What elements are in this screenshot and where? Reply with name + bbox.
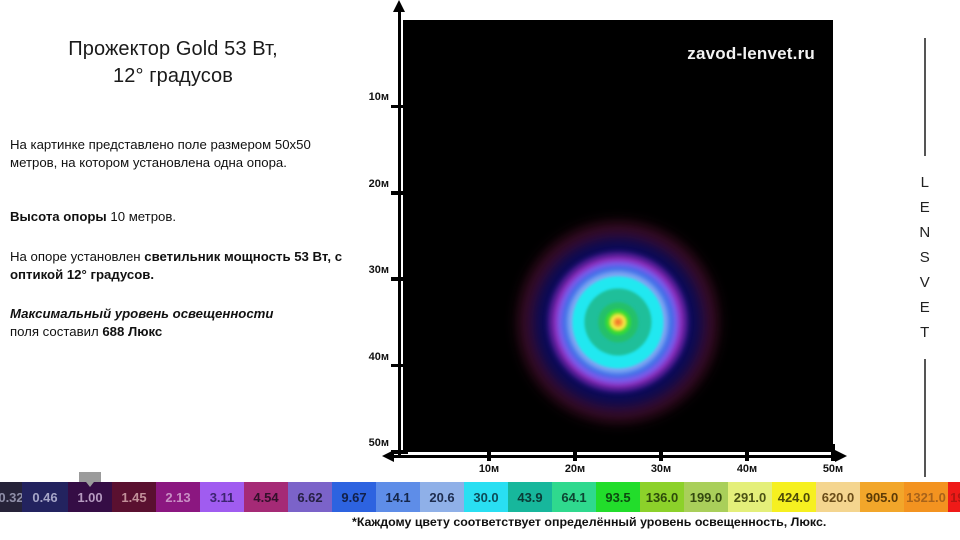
y-tick-label: 10м (349, 91, 389, 103)
y-tick-mark (391, 450, 408, 454)
colorbar-swatch-value: 0.46 (32, 490, 57, 505)
colorbar-swatch[interactable]: 1928.0 (948, 482, 960, 512)
colorbar-swatch-value: 424.0 (778, 490, 811, 505)
luminaire-prefix: На опоре установлен (10, 249, 144, 264)
colorbar-swatch-value: 43.9 (517, 490, 542, 505)
brand-rule-top (924, 38, 925, 156)
brand-letter: S (905, 245, 945, 270)
colorbar-swatch[interactable]: 4.54 (244, 482, 288, 512)
brand-letter: N (905, 220, 945, 245)
colorbar-swatch[interactable]: 20.6 (420, 482, 464, 512)
brand-letter: V (905, 270, 945, 295)
colorbar-swatch-value: 199.0 (690, 490, 723, 505)
colorbar-swatch[interactable]: 905.0 (860, 482, 904, 512)
y-tick-label: 30м (349, 264, 389, 276)
page-title-line-2: 12° градусов (8, 63, 338, 90)
x-tick-mark (487, 444, 491, 461)
plot-area: zavod-lenvet.ru (403, 20, 833, 452)
colorbar-swatch-value: 1321.0 (906, 490, 946, 505)
x-tick-mark (659, 444, 663, 461)
colorbar-swatch[interactable]: 136.0 (640, 482, 684, 512)
watermark-text: zavod-lenvet.ru (687, 44, 815, 64)
x-tick-label: 40м (727, 463, 767, 475)
description-pole-height: Высота опоры 10 метров. (10, 208, 346, 226)
colorbar-swatch-value: 6.62 (297, 490, 322, 505)
colorbar-swatch-value: 2.13 (165, 490, 190, 505)
y-tick-mark (391, 191, 408, 195)
colorbar-legend[interactable]: 0.320.461.001.452.133.114.546.629.6714.1… (0, 482, 960, 512)
colorbar-swatch[interactable]: 43.9 (508, 482, 552, 512)
x-tick-label: 30м (641, 463, 681, 475)
colorbar-swatch-value: 64.1 (561, 490, 586, 505)
page-title-line-1: Прожектор Gold 53 Вт, (8, 36, 338, 63)
max-illuminance-prefix: поля составил (10, 324, 102, 339)
colorbar-swatch[interactable]: 0.46 (22, 482, 68, 512)
x-axis-line (391, 455, 837, 458)
colorbar-swatch[interactable]: 1321.0 (904, 482, 948, 512)
y-tick-label: 20м (349, 178, 389, 190)
x-tick-label: 10м (469, 463, 509, 475)
colorbar-swatch[interactable]: 9.67 (332, 482, 376, 512)
colorbar-swatch[interactable]: 3.11 (200, 482, 244, 512)
colorbar-swatch-value: 93.5 (605, 490, 630, 505)
slide-root: Прожектор Gold 53 Вт, 12° градусов На ка… (0, 0, 960, 540)
colorbar-swatch-value: 1.00 (77, 490, 102, 505)
colorbar-swatch[interactable]: 1.00 (68, 482, 112, 512)
page-title: Прожектор Gold 53 Вт, 12° градусов (8, 36, 338, 90)
y-tick-mark (391, 277, 408, 281)
description-field-size: На картинке представлено поле размером 5… (10, 136, 346, 171)
x-tick-mark (831, 444, 835, 461)
brand-mark: LENSVET (905, 38, 945, 448)
max-illuminance-line: поля составил 688 Люкс (10, 323, 346, 341)
description-max-illuminance: Максимальный уровень освещенности поля с… (10, 305, 346, 340)
colorbar-swatch-value: 4.54 (253, 490, 278, 505)
brand-letter: E (905, 195, 945, 220)
brand-letter: L (905, 170, 945, 195)
colorbar-swatch[interactable]: 1.45 (112, 482, 156, 512)
y-tick-mark (391, 364, 408, 368)
colorbar-swatch[interactable]: 291.0 (728, 482, 772, 512)
y-tick-mark (391, 105, 408, 109)
colorbar-swatch[interactable]: 93.5 (596, 482, 640, 512)
colorbar-swatch[interactable]: 64.1 (552, 482, 596, 512)
brand-letters: LENSVET (905, 170, 945, 345)
brand-letter: E (905, 295, 945, 320)
colorbar-swatch-value: 30.0 (473, 490, 498, 505)
colorbar-footnote: *Каждому цвету соответствует определённы… (352, 515, 960, 529)
brand-rule-bottom (924, 359, 925, 477)
colorbar-swatch-value: 1928.0 (950, 490, 960, 505)
colorbar-swatch-value: 291.0 (734, 490, 767, 505)
max-illuminance-label: Максимальный уровень освещенности (10, 305, 346, 323)
x-tick-label: 50м (813, 463, 853, 475)
colorbar-swatch-value: 620.0 (822, 490, 855, 505)
colorbar-swatch-value: 14.1 (385, 490, 410, 505)
illuminance-chart: zavod-lenvet.ru 10м20м30м40м50м 10м20м30… (355, 0, 875, 480)
colorbar-swatch-value: 0.32 (0, 490, 24, 505)
description-luminaire: На опоре установлен светильник мощность … (10, 248, 346, 283)
colorbar-swatch-value: 905.0 (866, 490, 899, 505)
colorbar-swatch-value: 136.0 (646, 490, 679, 505)
y-tick-label: 50м (349, 437, 389, 449)
max-illuminance-value: 688 Люкс (102, 324, 162, 339)
colorbar-swatch[interactable]: 620.0 (816, 482, 860, 512)
colorbar-swatch[interactable]: 0.32 (0, 482, 22, 512)
colorbar-swatch-value: 9.67 (341, 490, 366, 505)
colorbar-swatch[interactable]: 199.0 (684, 482, 728, 512)
colorbar-swatch-value: 1.45 (121, 490, 146, 505)
colorbar-swatch[interactable]: 14.1 (376, 482, 420, 512)
colorbar-swatch-value: 20.6 (429, 490, 454, 505)
pole-height-label: Высота опоры (10, 209, 107, 224)
x-axis-arrow-right-icon (835, 450, 847, 462)
colorbar-swatch[interactable]: 2.13 (156, 482, 200, 512)
y-tick-label: 40м (349, 351, 389, 363)
colorbar-swatch[interactable]: 424.0 (772, 482, 816, 512)
colorbar-swatch-value: 3.11 (210, 490, 235, 505)
brand-letter: T (905, 320, 945, 345)
x-tick-label: 20м (555, 463, 595, 475)
colorbar-swatch[interactable]: 30.0 (464, 482, 508, 512)
pole-height-value: 10 метров. (107, 209, 176, 224)
colorbar-marker-icon (79, 473, 101, 487)
colorbar-swatch[interactable]: 6.62 (288, 482, 332, 512)
x-tick-mark (573, 444, 577, 461)
x-tick-mark (745, 444, 749, 461)
y-axis-line (398, 6, 401, 458)
info-panel: Прожектор Gold 53 Вт, 12° градусов На ка… (0, 0, 352, 470)
